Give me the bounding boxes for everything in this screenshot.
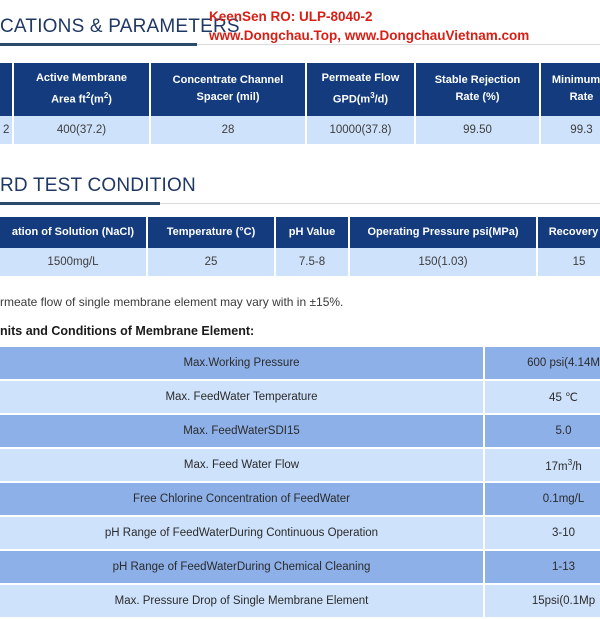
table-row: pH Range of FeedWaterDuring Continuous O…: [0, 517, 600, 549]
col-header-ph-value: pH Value: [276, 217, 348, 248]
col-header-line2: Rate: [544, 89, 600, 106]
cell-stable-rejection-rate: 99.50: [416, 116, 539, 144]
limits-table-body: Max.Working Pressure 600 psi(4.14M Max. …: [0, 347, 600, 617]
section-header-test-condition: RD TEST CONDITION: [0, 175, 600, 197]
cell-active-membrane-area: 400(37.2): [14, 116, 149, 144]
cell-limit-label: pH Range of FeedWaterDuring Continuous O…: [0, 517, 483, 549]
col-header-line1: Minimum R: [544, 72, 600, 89]
table-row: Max.Working Pressure 600 psi(4.14M: [0, 347, 600, 379]
cell-permeate-flow: 10000(37.8): [307, 116, 414, 144]
cell-limit-value: 5.0: [485, 415, 600, 447]
cell-recovery-rate: 15: [538, 248, 600, 276]
cell-limit-value: 1-13: [485, 551, 600, 583]
col-header-line2: Area ft2(m2): [17, 87, 146, 109]
section-2-divider: [0, 202, 600, 205]
cell-temperature: 25: [148, 248, 274, 276]
col-header-line2: Spacer (mil): [154, 89, 302, 106]
col-header-solution-concentration: ation of Solution (NaCl): [0, 217, 146, 248]
cell-limit-value: 15psi(0.1Mp: [485, 585, 600, 617]
divider-navy-line: [0, 43, 197, 46]
cell-limit-label: Max. Feed Water Flow: [0, 449, 483, 481]
col-header-line2: GPD(m3/d): [310, 87, 411, 109]
cell-operating-pressure: 150(1.03): [350, 248, 536, 276]
cell-limit-label: Max.Working Pressure: [0, 347, 483, 379]
cell-solution-concentration: 1500mg/L: [0, 248, 146, 276]
section-title-test-condition: RD TEST CONDITION: [0, 175, 600, 197]
col-header-line1: Concentrate Channel: [154, 72, 302, 89]
cell-limit-value: 45 ℃: [485, 381, 600, 413]
note-permeate-flow: rmeate flow of single membrane element m…: [0, 295, 343, 309]
col-header-line1: Stable Rejection: [419, 72, 536, 89]
table-row: pH Range of FeedWaterDuring Chemical Cle…: [0, 551, 600, 583]
col-header-line1: Permeate Flow: [310, 70, 411, 87]
brand-note-website: www.Dongchau.Top, www.DongchauVietnam.co…: [209, 26, 529, 45]
test-condition-table: ation of Solution (NaCl) Temperature (°C…: [0, 217, 600, 276]
brand-note: KeenSen RO: ULP-8040-2 www.Dongchau.Top,…: [209, 7, 529, 45]
col-header-line1: Active Membrane: [17, 70, 146, 87]
table-row: 1500mg/L 25 7.5-8 150(1.03) 15: [0, 248, 600, 276]
table-row: Max. Feed Water Flow 17m3/h: [0, 449, 600, 481]
limits-table: Max.Working Pressure 600 psi(4.14M Max. …: [0, 345, 600, 619]
cell-ph-value: 7.5-8: [276, 248, 348, 276]
note-limits-heading: nits and Conditions of Membrane Element:: [0, 324, 254, 338]
table-row: Max. Pressure Drop of Single Membrane El…: [0, 585, 600, 617]
col-header-permeate-flow: Permeate Flow GPD(m3/d): [307, 63, 414, 116]
limits-table-wrap: Max.Working Pressure 600 psi(4.14M Max. …: [0, 345, 600, 619]
specifications-table-wrap: Active Membrane Area ft2(m2) Concentrate…: [0, 63, 600, 144]
col-header-stable-rejection-rate: Stable Rejection Rate (%): [416, 63, 539, 116]
col-header-temperature: Temperature (°C): [148, 217, 274, 248]
brand-note-model: KeenSen RO: ULP-8040-2: [209, 7, 529, 26]
table-header-row: ation of Solution (NaCl) Temperature (°C…: [0, 217, 600, 248]
test-condition-table-wrap: ation of Solution (NaCl) Temperature (°C…: [0, 217, 600, 276]
cell-minimum-rejection-rate: 99.3: [541, 116, 600, 144]
table-row: 2 400(37.2) 28 10000(37.8) 99.50 99.3: [0, 116, 600, 144]
cell-model: 2: [0, 116, 12, 144]
cell-limit-label: Max. FeedWaterSDI15: [0, 415, 483, 447]
cell-limit-label: Max. Pressure Drop of Single Membrane El…: [0, 585, 483, 617]
col-header-model: [0, 63, 12, 116]
col-header-active-membrane-area: Active Membrane Area ft2(m2): [14, 63, 149, 116]
cell-limit-label: pH Range of FeedWaterDuring Chemical Cle…: [0, 551, 483, 583]
cell-limit-value: 17m3/h: [485, 449, 600, 481]
col-header-operating-pressure: Operating Pressure psi(MPa): [350, 217, 536, 248]
col-header-minimum-rejection-rate: Minimum R Rate: [541, 63, 600, 116]
col-header-line2: Rate (%): [419, 89, 536, 106]
cell-limit-label: Free Chlorine Concentration of FeedWater: [0, 483, 483, 515]
table-row: Max. FeedWaterSDI15 5.0: [0, 415, 600, 447]
divider-navy-line: [0, 202, 160, 205]
col-header-recovery-rate: Recovery R: [538, 217, 600, 248]
cell-limit-value: 600 psi(4.14M: [485, 347, 600, 379]
table-header-row: Active Membrane Area ft2(m2) Concentrate…: [0, 63, 600, 116]
cell-limit-value: 3-10: [485, 517, 600, 549]
table-row: Max. FeedWater Temperature 45 ℃: [0, 381, 600, 413]
col-header-concentrate-channel-spacer: Concentrate Channel Spacer (mil): [151, 63, 305, 116]
cell-limit-value: 0.1mg/L: [485, 483, 600, 515]
table-row: Free Chlorine Concentration of FeedWater…: [0, 483, 600, 515]
cell-concentrate-channel-spacer: 28: [151, 116, 305, 144]
specifications-table: Active Membrane Area ft2(m2) Concentrate…: [0, 63, 600, 144]
cell-limit-label: Max. FeedWater Temperature: [0, 381, 483, 413]
